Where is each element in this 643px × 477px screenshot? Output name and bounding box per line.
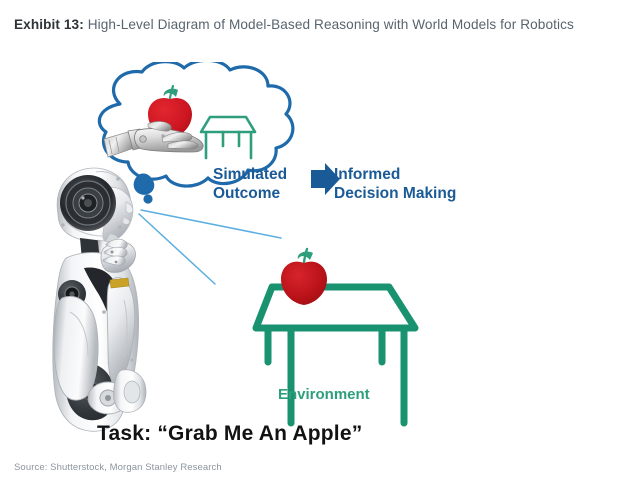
head-bolt-2 <box>61 223 64 226</box>
hand-knuckle-bolt <box>161 134 164 137</box>
vision-line-top <box>141 210 281 238</box>
robot-far-arm <box>113 370 146 413</box>
robot-ear-disc <box>60 175 116 231</box>
robot-head <box>57 168 133 244</box>
robot-hand-at-chin <box>101 239 135 272</box>
elbow-core <box>105 395 111 401</box>
head-bolt-3 <box>118 225 121 228</box>
chin-hand-bolt-1 <box>111 251 114 254</box>
robot-upper-arm <box>54 296 98 400</box>
exhibit-label: Exhibit 13: <box>14 17 84 32</box>
torso-bolt-4 <box>131 359 134 362</box>
robot-vision-cone <box>139 210 281 284</box>
environment-apple <box>281 249 327 305</box>
exhibit-title: High-Level Diagram of Model-Based Reason… <box>88 17 574 32</box>
humanoid-robot-thinking <box>53 168 146 431</box>
vision-line-bottom <box>139 214 215 284</box>
label-task: Task: “Grab Me An Apple” <box>97 422 362 446</box>
head-bolt-1 <box>116 177 119 180</box>
shoulder-joint-core <box>69 291 74 296</box>
label-environment: Environment <box>278 386 370 403</box>
chin-hand-bolt-2 <box>115 261 118 264</box>
forearm-gold-band <box>110 278 129 288</box>
ear-glint <box>81 196 84 199</box>
label-informed-decision-making: Informed Decision Making <box>334 165 456 203</box>
torso-bolt-1 <box>102 310 106 314</box>
upper-arm-shell <box>54 296 98 400</box>
exhibit-figure: Simulated Outcome Informed Decision Maki… <box>0 62 643 450</box>
thought-bubble-tail-small <box>143 194 152 203</box>
ear-core <box>84 199 92 207</box>
exhibit-header: Exhibit 13: High-Level Diagram of Model-… <box>14 12 614 37</box>
label-simulated-outcome: Simulated Outcome <box>213 165 287 203</box>
source-note: Source: Shutterstock, Morgan Stanley Res… <box>14 462 222 473</box>
table-top <box>256 287 415 328</box>
hand-wrist-bolt <box>140 136 147 143</box>
table-apple-body <box>281 262 327 305</box>
far-arm-joint <box>124 381 140 403</box>
